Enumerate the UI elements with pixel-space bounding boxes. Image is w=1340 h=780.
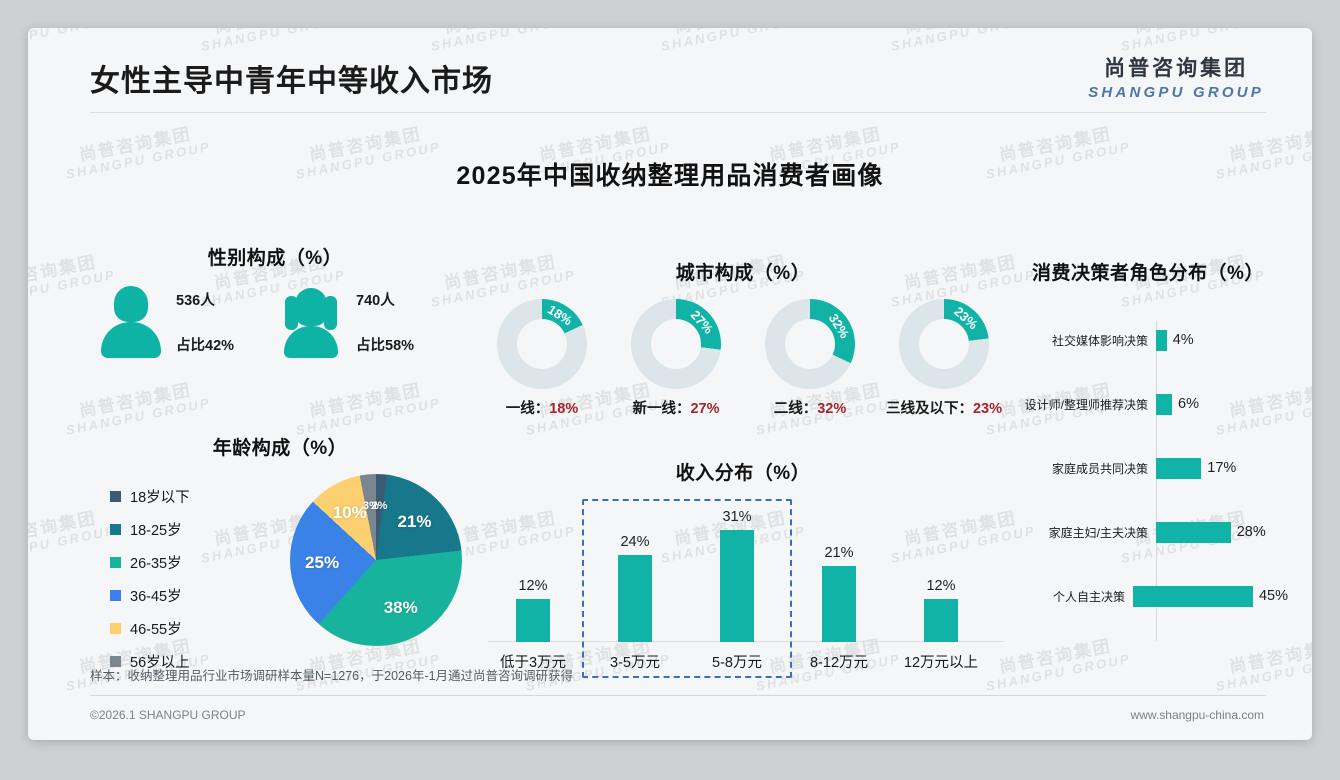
gender-male-count: 536人	[176, 289, 234, 310]
gender-male-share: 占比42%	[176, 334, 234, 355]
income-bar-value: 12%	[896, 578, 986, 594]
decision-bar-value: 45%	[1259, 588, 1288, 604]
city-donut-caption: 一线：18%	[478, 397, 606, 418]
decision-bar-label: 家庭成员共同决策	[1008, 460, 1156, 477]
decision-bar-value: 28%	[1237, 524, 1266, 540]
city-name: 新一线：	[632, 401, 690, 417]
income-bar-rect	[516, 599, 550, 642]
decision-bar-track: 45%	[1133, 583, 1288, 609]
decision-bar-value: 4%	[1173, 332, 1194, 348]
gender-item-female: 740人 占比58%	[280, 286, 460, 358]
age-legend-item: 46-55岁	[110, 618, 190, 639]
male-silhouette-icon	[100, 286, 162, 358]
city-donut-caption: 三线及以下：23%	[880, 397, 1008, 418]
income-bar-category: 8-12万元	[789, 651, 889, 672]
decision-bar-row: 设计师/整理师推荐决策6%	[1008, 391, 1288, 417]
income-bar-rect	[924, 599, 958, 642]
decision-bar-label: 家庭主妇/主夫决策	[1008, 524, 1156, 541]
watermark-text: 尚普咨询集团SHANGPU GROUP	[291, 378, 442, 437]
decision-bar-label: 社交媒体影响决策	[1008, 332, 1156, 349]
decision-bar-row: 个人自主决策45%	[1008, 583, 1288, 609]
age-slice-label: 25%	[305, 553, 339, 573]
decision-bar-label: 设计师/整理师推荐决策	[1008, 396, 1156, 413]
age-legend-item: 36-45岁	[110, 585, 190, 606]
decision-bar-label: 个人自主决策	[1008, 588, 1133, 605]
city-donut-cell: 23%三线及以下：23%	[880, 299, 1008, 418]
age-slice-label: 3%	[363, 500, 379, 512]
decision-bar-row: 家庭成员共同决策17%	[1008, 455, 1288, 481]
age-legend-label: 26-35岁	[130, 552, 182, 573]
age-legend-label: 46-55岁	[130, 618, 182, 639]
income-bar-rect	[822, 566, 856, 642]
city-donut-chart: 23%	[899, 299, 989, 389]
footer-divider	[90, 695, 1266, 696]
city-donut-cell: 32%二线：32%	[746, 299, 874, 418]
decision-bar-fill	[1156, 394, 1172, 415]
age-legend: 18岁以下18-25岁26-35岁36-45岁46-55岁56岁以上	[110, 486, 190, 684]
header-divider	[90, 112, 1266, 113]
main-chart-title: 2025年中国收纳整理用品消费者画像	[28, 156, 1312, 192]
legend-swatch-icon	[110, 557, 121, 568]
age-slice-label: 21%	[397, 512, 431, 532]
city-value: 27%	[690, 401, 719, 417]
decision-bar-chart: 社交媒体影响决策4%设计师/整理师推荐决策6%家庭成员共同决策17%家庭主妇/主…	[1008, 321, 1288, 641]
age-title: 年龄构成（%）	[90, 433, 470, 460]
city-value: 23%	[973, 401, 1002, 417]
logo-english-text: SHANGPU GROUP	[1088, 84, 1264, 101]
gender-title: 性别构成（%）	[90, 243, 460, 270]
income-highlight-box	[582, 499, 792, 678]
city-donut-row: 18%一线：18%27%新一线：27%32%二线：32%23%三线及以下：23%	[478, 299, 1008, 418]
decision-bar-fill	[1156, 522, 1231, 543]
income-bar-category: 12万元以上	[891, 651, 991, 672]
income-bar-column: 12%	[896, 578, 986, 642]
slide-canvas: 尚普咨询集团SHANGPU GROUP尚普咨询集团SHANGPU GROUP尚普…	[28, 28, 1312, 740]
legend-swatch-icon	[110, 524, 121, 535]
donut-hole	[517, 319, 567, 369]
donut-hole	[651, 319, 701, 369]
decision-panel: 消费决策者角色分布（%） 社交媒体影响决策4%设计师/整理师推荐决策6%家庭成员…	[1008, 258, 1288, 641]
donut-hole	[919, 319, 969, 369]
website-url[interactable]: www.shangpu-china.com	[1131, 708, 1264, 722]
legend-swatch-icon	[110, 623, 121, 634]
page-title: 女性主导中青年中等收入市场	[90, 56, 493, 100]
decision-bar-value: 17%	[1207, 460, 1236, 476]
screenshot-root: 尚普咨询集团SHANGPU GROUP尚普咨询集团SHANGPU GROUP尚普…	[0, 0, 1340, 780]
decision-bar-track: 4%	[1156, 327, 1288, 353]
age-slice-label: 38%	[384, 598, 418, 618]
city-panel: 城市构成（%） 18%一线：18%27%新一线：27%32%二线：32%23%三…	[478, 258, 1008, 418]
city-donut-caption: 新一线：27%	[612, 397, 740, 418]
income-bar-chart: 12%低于3万元24%3-5万元31%5-8万元21%8-12万元12%12万元…	[478, 503, 1008, 678]
gender-male-text: 536人 占比42%	[176, 289, 234, 355]
age-legend-item: 18-25岁	[110, 519, 190, 540]
gender-female-text: 740人 占比58%	[356, 289, 414, 355]
decision-bar-row: 社交媒体影响决策4%	[1008, 327, 1288, 353]
decision-bar-track: 6%	[1156, 391, 1288, 417]
city-donut-cell: 18%一线：18%	[478, 299, 606, 418]
gender-panel: 性别构成（%） 536人 占比42%	[90, 243, 460, 358]
donut-hole	[785, 319, 835, 369]
age-legend-label: 18岁以下	[130, 486, 190, 507]
age-legend-label: 36-45岁	[130, 585, 182, 606]
age-slice-label: 10%	[333, 503, 367, 523]
city-donut-chart: 18%	[497, 299, 587, 389]
decision-bar-track: 17%	[1156, 455, 1288, 481]
age-pie-chart: 2%21%38%25%10%3%	[290, 474, 462, 646]
gender-female-share: 占比58%	[356, 334, 414, 355]
income-title: 收入分布（%）	[478, 458, 1008, 485]
brand-logo: 尚普咨询集团 SHANGPU GROUP	[1088, 52, 1264, 101]
decision-bar-fill	[1133, 586, 1253, 607]
legend-swatch-icon	[110, 590, 121, 601]
city-name: 一线：	[506, 401, 550, 417]
age-legend-label: 18-25岁	[130, 519, 182, 540]
income-bar-column: 21%	[794, 545, 884, 642]
income-panel: 收入分布（%） 12%低于3万元24%3-5万元31%5-8万元21%8-12万…	[478, 458, 1008, 678]
slide-header: 女性主导中青年中等收入市场 尚普咨询集团 SHANGPU GROUP	[28, 28, 1312, 116]
legend-swatch-icon	[110, 491, 121, 502]
city-value: 18%	[549, 401, 578, 417]
decision-bar-fill	[1156, 330, 1167, 351]
city-donut-cell: 27%新一线：27%	[612, 299, 740, 418]
gender-female-count: 740人	[356, 289, 414, 310]
gender-item-male: 536人 占比42%	[100, 286, 280, 358]
city-donut-chart: 32%	[765, 299, 855, 389]
city-title: 城市构成（%）	[478, 258, 1008, 285]
decision-bar-row: 家庭主妇/主夫决策28%	[1008, 519, 1288, 545]
city-donut-caption: 二线：32%	[746, 397, 874, 418]
city-donut-chart: 27%	[631, 299, 721, 389]
city-name: 三线及以下：	[886, 401, 973, 417]
gender-items: 536人 占比42% 740人 占比58%	[90, 286, 460, 358]
city-value: 32%	[817, 401, 846, 417]
decision-title: 消费决策者角色分布（%）	[1008, 258, 1288, 285]
age-pie-wrap: 18岁以下18-25岁26-35岁36-45岁46-55岁56岁以上 2%21%…	[90, 474, 470, 684]
decision-bar-track: 28%	[1156, 519, 1288, 545]
income-bar-value: 12%	[488, 578, 578, 594]
sample-footnote: 样本：收纳整理用品行业市场调研样本量N=1276，于2026年-1月通过尚普咨询…	[90, 665, 573, 684]
watermark-text: 尚普咨询集团SHANGPU GROUP	[61, 378, 212, 437]
watermark-text: 尚普咨询集团SHANGPU GROUP	[1211, 634, 1312, 693]
age-legend-item: 26-35岁	[110, 552, 190, 573]
city-name: 二线：	[774, 401, 818, 417]
logo-chinese-text: 尚普咨询集团	[1088, 52, 1264, 82]
income-bar-column: 12%	[488, 578, 578, 642]
copyright-text: ©2026.1 SHANGPU GROUP	[90, 708, 246, 722]
age-panel: 年龄构成（%） 18岁以下18-25岁26-35岁36-45岁46-55岁56岁…	[90, 433, 470, 684]
decision-bar-fill	[1156, 458, 1201, 479]
income-bar-value: 21%	[794, 545, 884, 561]
age-legend-item: 18岁以下	[110, 486, 190, 507]
female-silhouette-icon	[280, 286, 342, 358]
decision-bar-value: 6%	[1178, 396, 1199, 412]
